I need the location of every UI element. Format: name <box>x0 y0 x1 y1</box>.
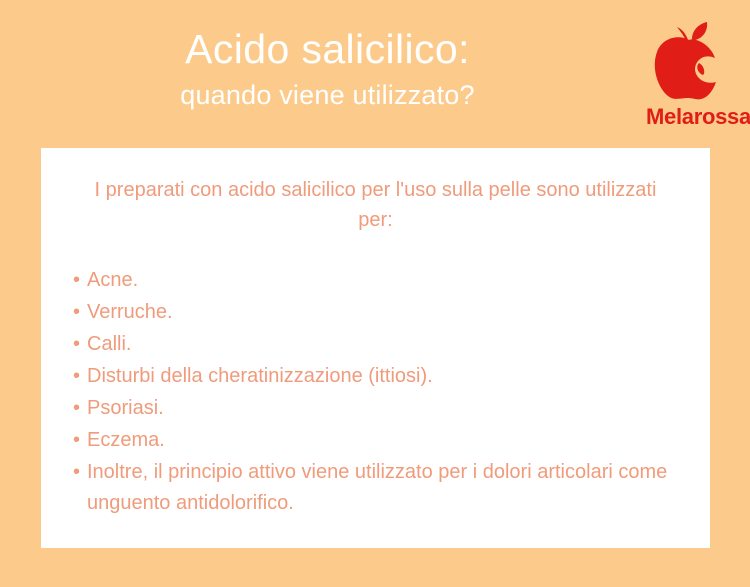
title-block: Acido salicilico: quando viene utilizzat… <box>40 26 615 112</box>
indications-list: • Acne. • Verruche. • Calli. • Disturbi … <box>41 235 710 519</box>
page-subtitle: quando viene utilizzato? <box>40 79 615 111</box>
content-card: I preparati con acido salicilico per l'u… <box>41 148 710 548</box>
brand-logo: Melarossa <box>640 22 750 134</box>
list-item-label: Eczema. <box>87 425 670 456</box>
list-item-label: Psoriasi. <box>87 393 670 424</box>
list-item-label: Calli. <box>87 329 670 360</box>
list-item-label: Disturbi della cheratinizzazione (ittios… <box>87 361 670 392</box>
bullet-dot-icon: • <box>73 457 80 488</box>
bullet-dot-icon: • <box>73 361 80 392</box>
list-item-label: Verruche. <box>87 297 670 328</box>
list-item-label: Inoltre, il principio attivo viene utili… <box>87 457 670 519</box>
bullet-dot-icon: • <box>73 297 80 328</box>
list-item-label: Acne. <box>87 265 670 296</box>
list-item: • Psoriasi. <box>73 393 670 424</box>
page-title: Acido salicilico: <box>40 26 615 73</box>
list-item: • Disturbi della cheratinizzazione (itti… <box>73 361 670 392</box>
list-item: • Verruche. <box>73 297 670 328</box>
intro-paragraph: I preparati con acido salicilico per l'u… <box>41 148 710 235</box>
red-apple-icon <box>648 22 732 102</box>
bullet-dot-icon: • <box>73 329 80 360</box>
header-banner: Acido salicilico: quando viene utilizzat… <box>0 0 750 148</box>
list-item: • Inoltre, il principio attivo viene uti… <box>73 457 670 519</box>
bullet-dot-icon: • <box>73 425 80 456</box>
list-item: • Eczema. <box>73 425 670 456</box>
brand-wordmark: Melarossa <box>646 104 750 130</box>
list-item: • Calli. <box>73 329 670 360</box>
list-item: • Acne. <box>73 265 670 296</box>
bullet-dot-icon: • <box>73 393 80 424</box>
bullet-dot-icon: • <box>73 265 80 296</box>
